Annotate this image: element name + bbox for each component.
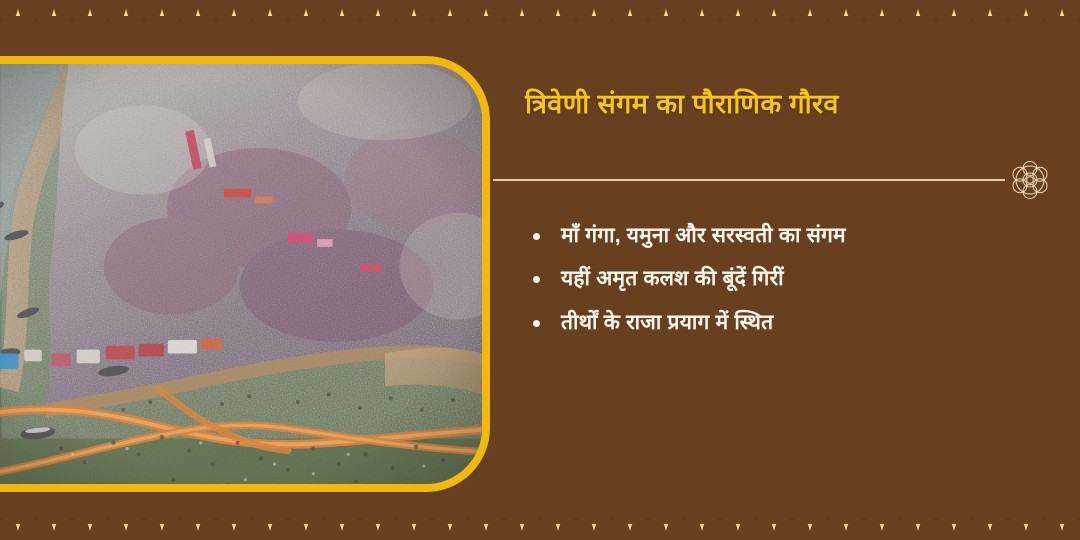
- list-item-label: माँ गंगा, यमुना और सरस्वती का संगम: [561, 224, 846, 247]
- list-item: माँ गंगा, यमुना और सरस्वती का संगम: [527, 222, 1057, 249]
- content-column: त्रिवेणी संगम का पौराणिक गौरव: [505, 0, 1080, 540]
- bullet-dot-icon: [533, 233, 540, 240]
- triveni-sangam-aerial-crowd-photo: [0, 64, 482, 484]
- list-item-label: यहीं अमृत कलश की बूंदें गिरीं: [561, 267, 784, 290]
- slide-root: त्रिवेणी संगम का पौराणिक गौरव: [0, 0, 1080, 540]
- bullet-dot-icon: [533, 276, 540, 283]
- divider-line: [493, 179, 1005, 181]
- bullet-list: माँ गंगा, यमुना और सरस्वती का संगम यहीं …: [527, 222, 1057, 352]
- list-item: तीर्थों के राजा प्रयाग में स्थित: [527, 309, 1057, 336]
- top-decorative-border: [0, 0, 1080, 34]
- page-title: त्रिवेणी संगम का पौराणिक गौरव: [525, 88, 1045, 122]
- photo-frame: [0, 56, 490, 492]
- mandala-rosette-icon: [1007, 157, 1053, 203]
- bottom-decorative-border: [0, 506, 1080, 540]
- list-item-label: तीर्थों के राजा प्रयाग में स्थित: [561, 311, 773, 334]
- divider-row: [493, 160, 1053, 200]
- list-item: यहीं अमृत कलश की बूंदें गिरीं: [527, 265, 1057, 292]
- bullet-dot-icon: [533, 320, 540, 327]
